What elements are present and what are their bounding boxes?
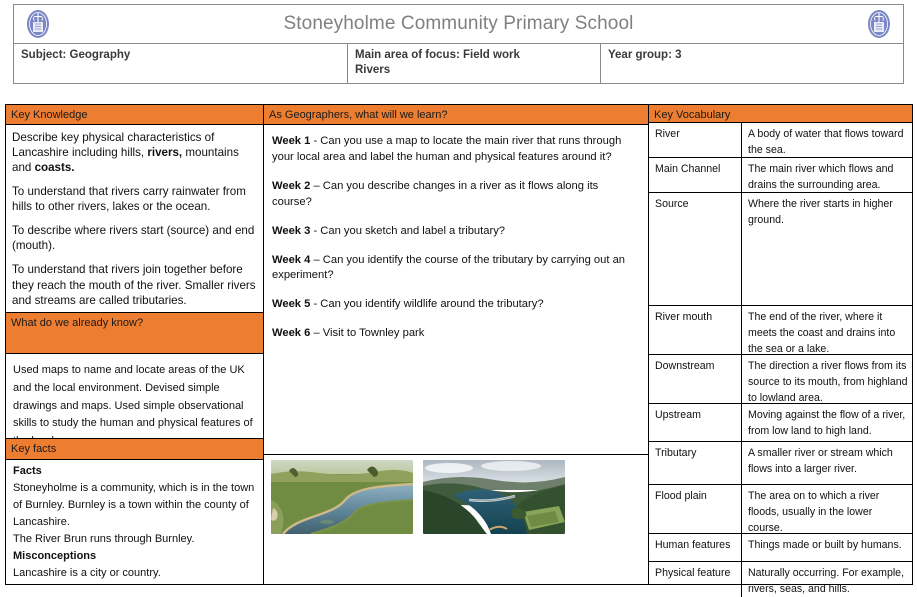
vocab-definition: Moving against the flow of a river, from… (742, 404, 912, 441)
key-facts-heading: Key facts (6, 439, 263, 460)
key-facts-body: Facts Stoneyholme is a community, which … (6, 460, 263, 584)
vocab-definition: The main river which flows and drains th… (742, 158, 912, 192)
key-knowledge-para-3: To describe where rivers start (source) … (12, 223, 257, 253)
misconceptions-text: Lancashire is a city or country. (13, 567, 161, 579)
facts-text-2: The River Brun runs through Burnley. (13, 531, 256, 548)
week-item: Week 3 - Can you sketch and label a trib… (272, 224, 640, 240)
knowledge-organiser-page: Stoneyholme Community Primary School Sub… (0, 0, 917, 587)
year-group-cell: Year group: 3 (601, 44, 903, 83)
school-crest-left (14, 5, 62, 43)
week-item: Week 2 – Can you describe changes in a r… (272, 179, 640, 211)
header-title-row: Stoneyholme Community Primary School (13, 4, 904, 43)
vocab-definition: A smaller river or stream which flows in… (742, 442, 912, 484)
column-vocabulary: Key Vocabulary River A body of water tha… (649, 105, 912, 584)
table-row: Tributary A smaller river or stream whic… (649, 442, 912, 485)
week-label: Week 4 (272, 254, 310, 266)
key-knowledge-heading: Key Knowledge (6, 105, 263, 125)
learning-photos (264, 455, 648, 584)
week-label: Week 5 (272, 298, 310, 310)
school-crest-icon (25, 9, 51, 39)
key-knowledge-para-2: To understand that rivers carry rainwate… (12, 184, 257, 214)
focus-line-1: Main area of focus: Field work (355, 48, 593, 63)
week-text: – Can you identify the course of the tri… (272, 254, 625, 282)
vocab-definition: The area on to which a river floods, usu… (742, 485, 912, 533)
week-label: Week 2 (272, 180, 310, 192)
vocab-term: Downstream (649, 355, 742, 403)
vocab-definition: Where the river starts in higher ground. (742, 193, 912, 305)
week-item: Week 6 – Visit to Townley park (272, 326, 640, 342)
key-knowledge-body: Describe key physical characteristics of… (6, 125, 263, 312)
week-text: - Can you identify wildlife around the t… (310, 298, 543, 310)
week-text: – Visit to Townley park (310, 327, 424, 339)
table-row: River A body of water that flows toward … (649, 123, 912, 158)
vocab-term: Tributary (649, 442, 742, 484)
vocab-definition: The direction a river flows from its sou… (742, 355, 912, 403)
table-row: Downstream The direction a river flows f… (649, 355, 912, 404)
week-text: - Can you sketch and label a tributary? (310, 225, 505, 237)
vocabulary-table: River A body of water that flows toward … (649, 123, 912, 597)
vocab-term: Human features (649, 534, 742, 561)
page-title: Stoneyholme Community Primary School (62, 13, 855, 35)
table-row: River mouth The end of the river, where … (649, 306, 912, 355)
vocab-definition: The end of the river, where it meets the… (742, 306, 912, 354)
table-row: Human features Things made or built by h… (649, 534, 912, 562)
vocab-term: Source (649, 193, 742, 305)
vocab-definition: Things made or built by humans. (742, 534, 912, 561)
learning-weeks-list: Week 1 - Can you use a map to locate the… (264, 125, 648, 455)
table-row: Physical feature Naturally occurring. Fo… (649, 562, 912, 597)
table-row: Flood plain The area on to which a river… (649, 485, 912, 534)
facts-label: Facts (13, 463, 256, 480)
already-know-body: Used maps to name and locate areas of th… (6, 354, 263, 439)
school-crest-right (855, 5, 903, 43)
focus-line-2: Rivers (355, 63, 593, 78)
organiser-grid: Key Knowledge Describe key physical char… (5, 104, 913, 585)
key-knowledge-para-4: To understand that rivers join together … (12, 262, 257, 307)
focus-cell: Main area of focus: Field work Rivers (348, 44, 601, 83)
vocab-term: River mouth (649, 306, 742, 354)
school-crest-icon (866, 9, 892, 39)
river-valley-aerial-photo (423, 460, 565, 534)
learning-heading: As Geographers, what will we learn? (264, 105, 648, 125)
column-key-knowledge: Key Knowledge Describe key physical char… (6, 105, 264, 584)
vocabulary-heading: Key Vocabulary (649, 105, 912, 123)
subject-cell: Subject: Geography (14, 44, 348, 83)
week-text: – Can you describe changes in a river as… (272, 180, 598, 208)
facts-text: Stoneyholme is a community, which is in … (13, 482, 254, 528)
vocab-term: Flood plain (649, 485, 742, 533)
vocab-term: Physical feature (649, 562, 742, 597)
header-meta-row: Subject: Geography Main area of focus: F… (13, 43, 904, 84)
vocab-term: River (649, 123, 742, 157)
week-item: Week 5 - Can you identify wildlife aroun… (272, 297, 640, 313)
week-text: - Can you use a map to locate the main r… (272, 135, 621, 163)
vocab-term: Upstream (649, 404, 742, 441)
page-header: Stoneyholme Community Primary School Sub… (13, 4, 904, 84)
column-learning: As Geographers, what will we learn? Week… (264, 105, 649, 584)
key-knowledge-para-1: Describe key physical characteristics of… (12, 130, 257, 175)
week-label: Week 3 (272, 225, 310, 237)
misconceptions-label: Misconceptions (13, 548, 256, 565)
week-label: Week 6 (272, 327, 310, 339)
week-item: Week 1 - Can you use a map to locate the… (272, 134, 640, 166)
table-row: Main Channel The main river which flows … (649, 158, 912, 193)
vocab-definition: Naturally occurring. For example, rivers… (742, 562, 912, 597)
table-row: Upstream Moving against the flow of a ri… (649, 404, 912, 442)
week-label: Week 1 (272, 135, 310, 147)
table-row: Source Where the river starts in higher … (649, 193, 912, 306)
vocab-term: Main Channel (649, 158, 742, 192)
river-meander-photo (271, 460, 413, 534)
already-know-heading: What do we already know? (6, 312, 263, 354)
vocab-definition: A body of water that flows toward the se… (742, 123, 912, 157)
week-item: Week 4 – Can you identify the course of … (272, 253, 640, 285)
